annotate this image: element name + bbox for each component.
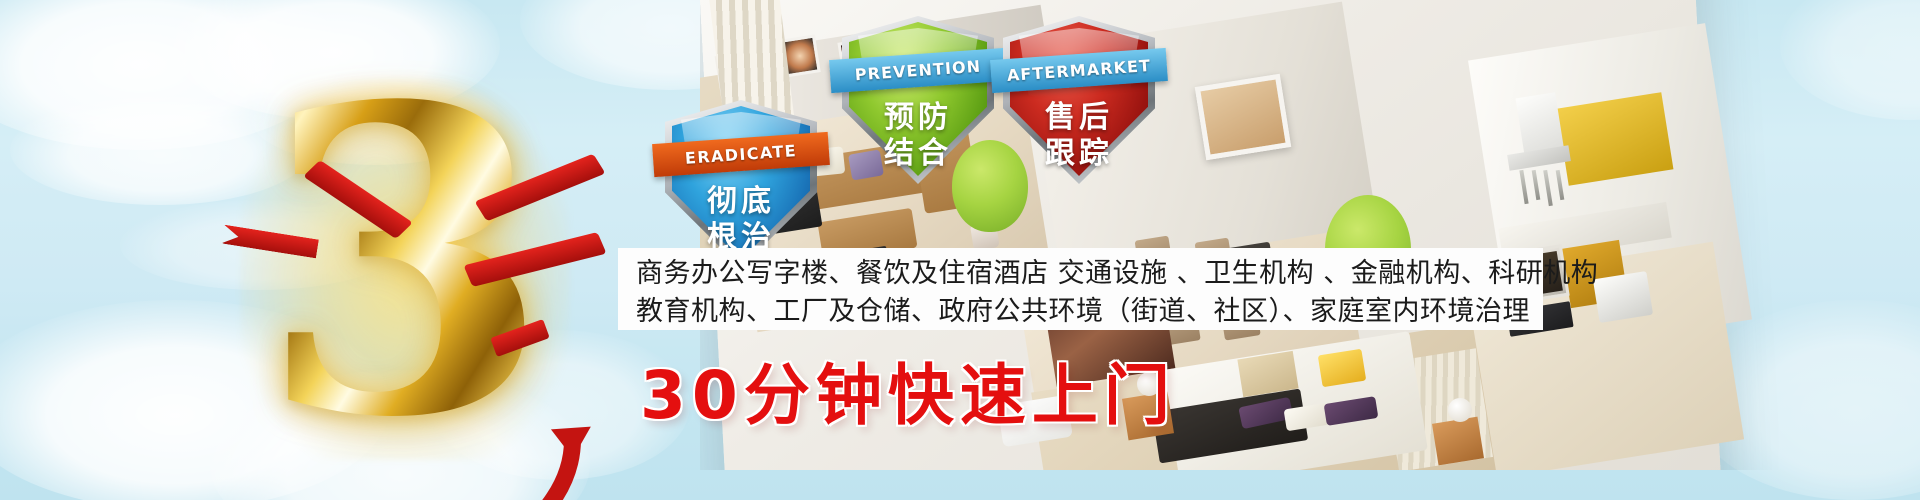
service-scope-line-1: 商务办公写字楼、餐饮及住宿酒店 交通设施 、卫生机构 、金融机构、科研机构 (636, 255, 1543, 293)
red-ribbon-arrow-icon (466, 420, 616, 500)
service-scope-line-2: 教育机构、工厂及仓储、政府公共环境（街道、社区）、家庭室内环境治理 (636, 293, 1543, 331)
nightstand (1432, 417, 1484, 466)
headline-text: 30分钟快速上门 (640, 342, 1176, 438)
kitchen-upper-cabinet (1557, 92, 1674, 186)
service-scope-panel: 商务办公写字楼、餐饮及住宿酒店 交通设施 、卫生机构 、金融机构、科研机构 教育… (618, 248, 1543, 330)
shield-banner-label: AFTERMARKET (1006, 56, 1151, 85)
shield-badge-aftermarket: 售后 跟踪 AFTERMARKET (1003, 16, 1155, 184)
table-lamp (1448, 398, 1472, 422)
shield-cn-line2: 跟踪 (1003, 128, 1155, 172)
kitchen-sink (1593, 271, 1653, 323)
framed-painting (1195, 74, 1292, 161)
hero-number-three: 3 (240, 80, 570, 460)
shield-banner-label: PREVENTION (854, 57, 982, 85)
shield-cn-line2: 结合 (842, 128, 994, 172)
folded-blanket (1318, 349, 1366, 387)
promo-banner: 3 彻底 根治 ERADICATE 预防 结合 PREVENTION (0, 0, 1920, 500)
shield-badge-prevention: 预防 结合 PREVENTION (842, 16, 994, 184)
shield-badge-eradicate: 彻底 根治 ERADICATE (665, 100, 817, 268)
shield-banner-label: ERADICATE (684, 141, 797, 168)
